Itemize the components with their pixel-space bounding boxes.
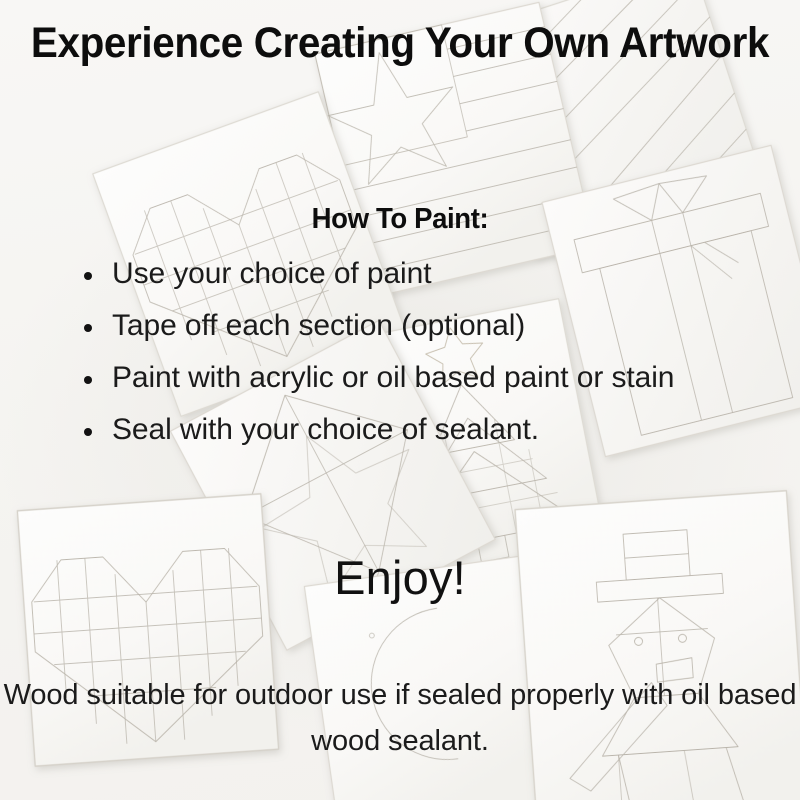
- how-to-paint-heading: How To Paint:: [20, 202, 780, 236]
- footer-note: Wood suitable for outdoor use if sealed …: [0, 672, 800, 764]
- list-item: Use your choice of paint: [70, 248, 770, 300]
- instructions-list: Use your choice of paint Tape off each s…: [70, 248, 770, 456]
- enjoy-text: Enjoy!: [0, 548, 800, 608]
- text-overlay: Experience Creating Your Own Artwork How…: [0, 0, 800, 800]
- infographic-page: Experience Creating Your Own Artwork How…: [0, 0, 800, 800]
- page-title: Experience Creating Your Own Artwork: [24, 18, 776, 68]
- list-item: Seal with your choice of sealant.: [70, 404, 770, 456]
- list-item: Paint with acrylic or oil based paint or…: [70, 352, 770, 404]
- list-item: Tape off each section (optional): [70, 300, 770, 352]
